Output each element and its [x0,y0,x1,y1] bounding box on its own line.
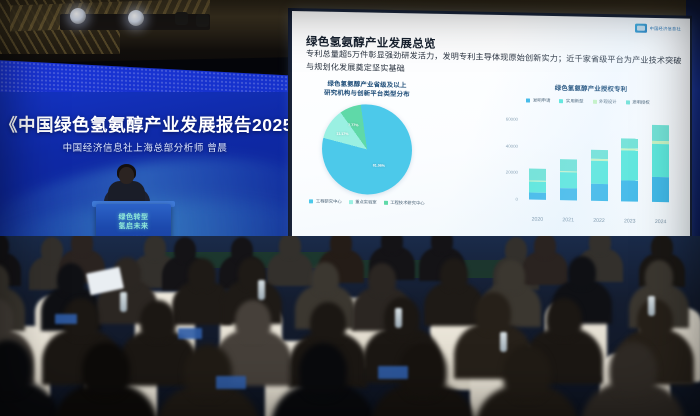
audience-member-head [546,298,582,340]
audience-member-head [368,263,396,296]
audience-member-head [310,302,346,344]
audience-member-head [497,260,525,293]
pie-label-2: 7.77% [348,123,358,127]
pie-legend-item: 重点实验室 [349,199,377,206]
bar-legend-item: 发明授权 [626,99,650,105]
water-bottle [258,280,265,300]
audience-member-head [140,300,176,342]
audience-member-head [188,258,216,291]
bar-segment [652,144,669,178]
bar-column [621,138,638,202]
bar-segment [560,159,577,171]
x-axis-label: 2023 [624,218,636,224]
bar-column [529,169,546,200]
legend-swatch [349,200,353,204]
audience [0,236,700,416]
backdrop-subtitle: 中国经济信息社上海总部分析师 曾晨 [0,140,290,154]
stage-light-off-icon [196,14,209,27]
legend-swatch [593,100,597,104]
bar-legend-item: 外观设计 [593,99,617,105]
audience-member-head [144,236,166,261]
audience-member-head [534,236,556,259]
audience-member-head [440,258,468,291]
stage-light-icon [128,10,144,26]
water-bottle [500,332,507,352]
audience-member-head [609,342,657,398]
bar-legend-item: 实用新型 [559,98,583,104]
bar-segment [652,125,669,142]
slide-logo: 中国经济信息社 [635,24,681,34]
legend-label: 发明授权 [632,100,650,106]
bar-legend-item: 发明申请 [526,97,550,103]
pie-chart-legend: 工程研究中心重点实验室工程技术研究中心 [304,198,430,206]
bar-column [560,159,577,200]
audience-member-head [431,236,453,254]
bar-segment [529,181,546,193]
stage-light-icon [70,8,86,24]
bar-chart-legend: 发明申请实用新型外观设计发明授权 [494,97,682,107]
pie-legend-item: 工程技术研究中心 [384,200,425,207]
organization-logo-icon [635,24,647,33]
name-card [178,328,202,339]
bar-column [652,125,669,203]
legend-label: 重点实验室 [355,199,376,205]
name-card [378,366,408,379]
pie-chart: 81.06% 11.17% 7.77% 工程研究中心重点实验室工程技术研究中心 [304,99,430,213]
bar-segment [560,172,577,188]
name-card [216,376,246,389]
name-card [55,314,77,324]
water-bottle [120,292,127,312]
audience-member-head [589,236,611,255]
audience-member-head [381,236,403,254]
bar-segment [591,160,608,184]
bar-chart-title: 绿色氢氨醇产业授权专利 [506,83,676,95]
audience-member-head [311,262,339,295]
x-axis-label: 2024 [655,219,667,225]
audience-member-head [475,292,511,334]
x-axis-label: 2021 [562,217,574,223]
slide-body-text: 专利总量超5万件彰显强劲研发活力，发明专利主导体现原始创新实力；近千家省级平台为… [306,47,684,80]
x-axis-label: 2022 [593,218,605,224]
audience-member-head [174,237,196,263]
legend-swatch [626,100,630,104]
bar-chart-y-axis: 0200004000060000 [488,111,520,200]
bar-segment [621,181,638,202]
pie-label-0: 81.06% [373,164,385,168]
audience-member-head [57,263,85,296]
pie-slices [322,104,412,196]
bar-segment [621,151,638,181]
y-axis-tick: 0 [516,197,518,202]
conference-photo-scene: 《中国绿色氢氨醇产业发展报告2025》解读 中国经济信息社上海总部分析师 曾晨 … [0,0,700,416]
backdrop-title: 《中国绿色氢氨醇产业发展报告2025》解读 [0,112,290,137]
bar-segment [591,149,608,158]
y-axis-tick: 40000 [506,143,518,148]
y-axis-tick: 60000 [506,117,518,122]
audience-member-head [279,236,301,259]
legend-label: 工程技术研究中心 [390,200,424,207]
bar-segment [560,188,577,200]
bar-column [591,149,608,201]
bar-segment [652,177,669,202]
legend-label: 工程研究中心 [316,198,342,204]
audience-member-head [645,260,673,293]
bar-segment [621,138,638,149]
audience-member-head [235,300,271,342]
pie-label-1: 11.17% [336,132,348,136]
audience-member-head [184,344,232,400]
water-bottle [648,296,655,316]
audience-member-head [651,236,673,260]
legend-label: 发明申请 [533,98,551,104]
stage-light-off-icon [175,12,188,25]
pie-chart-title: 绿色氢氨醇产业省级及以上 研究机构与创新平台类型分布 [304,79,430,99]
audience-member-head [71,236,93,256]
y-axis-tick: 20000 [506,170,518,175]
bar-segment [591,184,608,201]
audience-member-head [384,297,420,339]
legend-swatch [559,99,563,103]
bar-chart: 发明申请实用新型外观设计发明授权 0200004000060000 202020… [488,97,682,221]
legend-label: 实用新型 [566,98,584,104]
legend-swatch [309,199,313,203]
audience-member-head [82,342,130,398]
x-axis-label: 2020 [532,217,544,223]
podium-slogan: 绿色转型 氢启未来 [96,213,171,231]
pie-legend-item: 工程研究中心 [309,198,341,205]
speaker-head [119,167,134,184]
legend-label: 外观设计 [599,99,617,105]
bar-segment [529,169,546,181]
slide-logo-text: 中国经济信息社 [650,25,681,32]
audience-member-head [568,256,596,289]
legend-swatch [526,98,530,102]
water-bottle [395,308,402,328]
bar-segment [529,193,546,200]
audience-member-head [299,343,347,399]
bar-chart-plot-area: 20202021202220232024 [522,111,676,202]
audience-member-head [330,236,352,256]
legend-swatch [384,201,388,205]
audience-member-head [503,345,551,401]
